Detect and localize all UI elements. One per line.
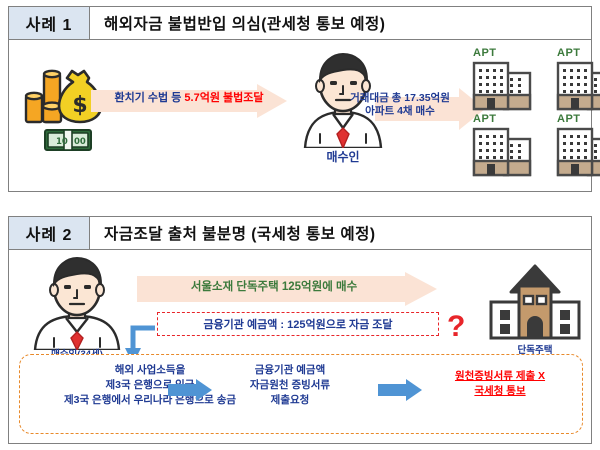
case-1-panel: 사례 1 해외자금 불법반입 의심(관세청 통보 예정)	[8, 6, 592, 192]
case-1-title: 해외자금 불법반입 의심(관세청 통보 예정)	[90, 7, 591, 39]
case-1-tag: 사례 1	[9, 7, 90, 39]
flow-step-2-line-1: 금융기관 예금액	[210, 363, 370, 378]
flow-step-2: 금융기관 예금액 자금원천 증빙서류 제출요청	[210, 363, 370, 408]
house-purchase-arrow-text: 서울소재 단독주택 125억원에 매수	[137, 280, 411, 294]
illicit-funds-arrow-text: 환치기 수법 등 5.7억원 불법조달	[91, 92, 287, 106]
illicit-funds-arrow: 환치기 수법 등 5.7억원 불법조달	[91, 84, 287, 118]
purchase-amount-arrow-text: 거래대금 총 17.35억원 아파트 4채 매수	[333, 92, 467, 118]
purchase-amount-line1: 거래대금 총 17.35억원	[333, 92, 467, 105]
flow-step-2-line-3: 제출요청	[210, 393, 370, 408]
flow-step-3-line-2: 국세청 통보	[420, 384, 580, 399]
apartment-item: APT	[553, 114, 600, 176]
flow-step-3-line-1: 원천증빙서류 제출 X	[420, 369, 580, 384]
apartment-label: APT	[557, 113, 581, 125]
funding-flow-box: 해외 사업소득을 제3국 은행으로 입금 제3국 은행에서 우리나라 은행으로 …	[19, 354, 583, 434]
deposit-callout-text: 금융기관 예금액 : 125억원으로 자금 조달	[203, 316, 392, 332]
question-mark-icon: ?	[447, 312, 465, 342]
flow-arrow-2-icon	[378, 379, 422, 401]
apartment-label: APT	[473, 113, 497, 125]
case-1-body: $ 10 00 환치기 수법 등 5.7억원 불법	[8, 39, 592, 192]
case-summary-page: 사례 1 해외자금 불법반입 의심(관세청 통보 예정)	[0, 0, 600, 450]
apartment-item: APT	[469, 114, 547, 176]
svg-text:10: 10	[56, 137, 68, 147]
case-2-tag: 사례 2	[9, 217, 90, 249]
deposit-callout: 금융기관 예금액 : 125억원으로 자금 조달	[157, 312, 439, 336]
case-1-header: 사례 1 해외자금 불법반입 의심(관세청 통보 예정)	[8, 6, 592, 39]
apartment-label: APT	[473, 47, 497, 59]
flow-step-3: 원천증빙서류 제출 X 국세청 통보	[420, 369, 580, 399]
apartment-label: APT	[557, 47, 581, 59]
illicit-funds-amount: 5.7억원 불법조달	[184, 92, 263, 104]
case-2-header: 사례 2 자금조달 출처 불분명 (국세청 통보 예정)	[8, 216, 592, 249]
buyer-avatar-2: 매수인(34세)	[27, 254, 127, 350]
purchase-amount-line2: 아파트 4채 매수	[333, 105, 467, 118]
apartment-item: APT	[469, 48, 547, 110]
case-2-panel: 사례 2 자금조달 출처 불분명 (국세청 통보 예정)	[8, 216, 592, 444]
illicit-funds-prefix: 환치기 수법 등	[115, 92, 185, 104]
apartment-item: APT	[553, 48, 600, 110]
apartment-group: APT	[469, 48, 600, 176]
detached-house-icon: 단독주택	[481, 258, 589, 350]
svg-text:00: 00	[74, 137, 86, 147]
flow-step-2-line-2: 자금원천 증빙서류	[210, 378, 370, 393]
flow-arrow-1-icon	[168, 379, 212, 401]
house-purchase-arrow: 서울소재 단독주택 125억원에 매수	[137, 272, 437, 306]
case-2-title: 자금조달 출처 불분명 (국세청 통보 예정)	[90, 217, 591, 249]
case-2-body: 매수인(34세) 서울소재 단독주택 125억원에 매수	[8, 249, 592, 444]
svg-text:$: $	[72, 93, 87, 118]
buyer-label: 매수인	[326, 148, 359, 165]
